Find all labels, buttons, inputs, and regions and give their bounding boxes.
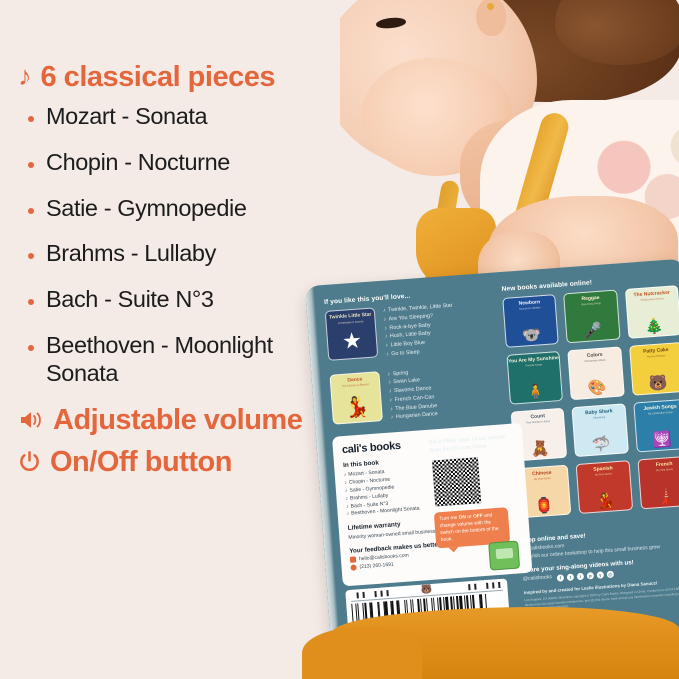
song-label: Hungarian Dance [396, 411, 438, 420]
music-note-icon: ♪ [346, 503, 349, 509]
new-books-column: New books available online! NewbornSound… [501, 273, 679, 518]
book-cover-art: 🗼 [640, 488, 679, 507]
adjustable-volume-label: Adjustable volume [53, 405, 302, 436]
book-cover-4[interactable]: ColorsFirst Words Library🎨 [568, 346, 625, 400]
book-cover-subtitle: Favorite Songs [525, 363, 542, 367]
book-cover-7[interactable]: Baby SharkSing Along🦈 [572, 403, 629, 457]
book-cover-subtitle: Sing Along Songs [581, 302, 601, 306]
bullet-dot [28, 116, 34, 122]
bullet-dot [28, 208, 34, 214]
music-note-icon: ♪ [345, 496, 348, 502]
bullet-dot [28, 253, 34, 259]
piano-black-key [498, 582, 500, 588]
mini-cover-subtitle: The Classics & Beyond [342, 383, 369, 388]
charge-section: Charge with USB-C Get a FREE cable on ou… [428, 424, 522, 549]
piece-label: Mozart - Sonata [46, 103, 207, 131]
classical-pieces-title: 6 classical pieces [41, 62, 275, 93]
instagram-icon[interactable]: i [577, 572, 584, 579]
song-list-twinkle: ♪Twinkle, Twinkle, Little Star ♪Are You … [383, 302, 456, 359]
book-cover-subtitle: My Celebration Songs [648, 411, 673, 416]
book-cover-8[interactable]: Jewish SongsMy Celebration Songs🕎 [633, 399, 679, 453]
feature-column: ♪ 6 classical pieces Mozart - Sonata Cho… [0, 0, 340, 679]
speaker-volume-icon [18, 405, 44, 431]
book-cover-subtitle: Tchaikovsky Classics [640, 297, 664, 302]
speaker-device-icon [488, 541, 520, 571]
piano-black-key [474, 584, 476, 590]
charge-text: Get a FREE cable on our website. Scan th… [428, 433, 515, 455]
onoff-button-label: On/Off button [50, 447, 232, 478]
piece-label: Bach - Suite N°3 [46, 286, 214, 314]
heart-icon [521, 554, 527, 560]
list-item: Mozart - Sonata [28, 103, 340, 131]
piano-black-key [356, 592, 358, 598]
qr-code[interactable] [432, 457, 481, 506]
music-note-icon: ♪ [383, 308, 386, 314]
mini-cover-subtitle: 10 Melodies & Sounds [338, 320, 364, 325]
book-cover-art: 🎨 [571, 378, 623, 397]
callout-pre: Turn me [439, 515, 459, 521]
bullet-dot [28, 162, 34, 168]
bear-icon: 🐻 [421, 585, 433, 595]
overall-fabric-bottom [332, 607, 679, 679]
song-label: Little Boy Blue [390, 340, 425, 349]
suggestion-twinkle[interactable]: Twinkle Little Star 10 Melodies & Sounds… [325, 298, 500, 363]
piano-black-key [362, 592, 364, 598]
list-item: Brahms - Lullaby [28, 240, 340, 268]
globe-icon [521, 547, 527, 553]
bullet-dot [28, 299, 34, 305]
bullet-dot [28, 345, 34, 351]
book-cover-10[interactable]: SpanishMy First Words💃 [576, 460, 633, 514]
mini-cover-dance[interactable]: Dance The Classics & Beyond 💃 [329, 371, 383, 425]
onoff-button-feature: On/Off button [18, 447, 340, 478]
social-handle: @calisbooks [523, 574, 552, 584]
music-note-icon: ♪ [385, 342, 388, 348]
music-note-icon: ♪ [18, 63, 32, 90]
list-item: Chopin - Nocturne [28, 149, 340, 177]
book-cover-art: 🎤 [567, 322, 619, 341]
classical-pieces-heading: ♪ 6 classical pieces [18, 62, 340, 93]
music-note-icon: ♪ [344, 472, 347, 478]
music-note-icon: ♪ [346, 511, 349, 517]
song-list-dance: ♪Spring ♪Swan Lake ♪Slavonic Dance ♪Fren… [387, 367, 438, 423]
phone-icon [350, 565, 356, 571]
book-cover-art: 🐨 [506, 326, 558, 345]
product-marketing-image: ♪ 6 classical pieces Mozart - Sonata Cho… [0, 0, 679, 679]
baby-photo [340, 0, 679, 300]
music-note-icon: ♪ [387, 371, 390, 377]
book-back-cover: If you like this you'll love... Twinkle … [305, 259, 679, 658]
song-label: Swan Lake [393, 377, 420, 385]
piece-label: Satie - Gymnopedie [46, 195, 247, 223]
song-label: Go to Sleep [391, 349, 420, 357]
song-label: French Can-Can [394, 394, 434, 403]
callout-off: OFF [473, 514, 483, 520]
suggestions-column: If you like this you'll love... Twinkle … [324, 286, 506, 437]
onoff-callout: Turn me ON or OFF and change volume with… [434, 507, 510, 549]
facebook-icon[interactable]: f [557, 574, 564, 581]
music-note-icon: ♪ [386, 351, 389, 357]
book-cover-3[interactable]: You Are My SunshineFavorite Songs🧍 [506, 351, 563, 405]
book-cover-subtitle: Nursery Rhymes [647, 354, 666, 358]
book-cover-art: 🎄 [628, 317, 679, 336]
mini-cover-twinkle[interactable]: Twinkle Little Star 10 Melodies & Sounds… [325, 307, 379, 361]
music-note-icon: ♪ [389, 388, 392, 394]
music-note-icon: ♪ [384, 325, 387, 331]
piano-black-key [374, 591, 376, 597]
email-social-icon[interactable]: @ [606, 570, 613, 577]
classical-pieces-list: Mozart - Sonata Chopin - Nocturne Satie … [28, 103, 340, 387]
book-cover-art: 🐻 [632, 374, 679, 393]
piano-black-key [486, 583, 488, 589]
music-note-icon: ♪ [344, 480, 347, 486]
shop-share-section: Shop online and save! calisbooks.com Vis… [520, 524, 679, 612]
book-cover-5[interactable]: Patty CakeNursery Rhymes🐻 [629, 342, 679, 396]
book-cover-subtitle: My First Words [656, 468, 673, 472]
piece-label: Brahms - Lullaby [46, 240, 216, 268]
book-cover-subtitle: Sounds & Lullabies [519, 306, 541, 311]
song-label: Spring [393, 370, 409, 377]
music-note-icon: ♪ [391, 415, 394, 421]
piece-label: Beethoven - Moonlight Sonata [46, 332, 296, 387]
music-note-icon: ♪ [388, 380, 391, 386]
music-note-icon: ♪ [345, 488, 348, 494]
book-cover-subtitle: First Words Library [584, 358, 605, 363]
list-item: Beethoven - Moonlight Sonata [28, 332, 340, 387]
ballerina-icon: 💃 [344, 397, 370, 419]
piano-black-key [386, 590, 388, 596]
book-cover-art: 🧍 [510, 383, 562, 402]
piano-black-key [380, 591, 382, 597]
star-icon: ★ [341, 329, 362, 352]
tiktok-icon[interactable]: t [567, 573, 574, 580]
music-note-icon: ♪ [385, 334, 388, 340]
book-cover-0[interactable]: NewbornSounds & Lullabies🐨 [502, 294, 559, 348]
book-cover-1[interactable]: ReggaeSing Along Songs🎤 [563, 290, 620, 344]
power-button-icon [18, 447, 41, 473]
book-cover-2[interactable]: The NutcrackerTchaikovsky Classics🎄 [625, 285, 679, 339]
pinterest-icon[interactable]: p [587, 572, 594, 579]
book-cover-art: 🕎 [636, 431, 679, 450]
adjustable-volume-feature: Adjustable volume [18, 405, 340, 436]
list-item: Bach - Suite N°3 [28, 286, 340, 314]
email-icon [350, 557, 356, 563]
music-note-icon: ♪ [389, 397, 392, 403]
book-cover-subtitle: My First Words [534, 477, 551, 481]
book-cover-11[interactable]: FrenchMy First Words🗼 [637, 456, 679, 510]
piece-label: Chopin - Nocturne [46, 149, 230, 177]
suggestion-dance[interactable]: Dance The Classics & Beyond 💃 ♪Spring ♪S… [329, 362, 504, 427]
music-note-icon: ♪ [390, 406, 393, 412]
book-cover-art: 🦈 [575, 435, 627, 454]
book-cover-subtitle: My First Words [595, 472, 612, 476]
piano-black-key [492, 582, 494, 588]
new-books-grid: NewbornSounds & Lullabies🐨ReggaeSing Alo… [502, 285, 679, 518]
book-cover-subtitle: Sing Along [593, 416, 605, 420]
piano-black-key [468, 584, 470, 590]
music-note-icon: ♪ [383, 316, 386, 322]
book-cover-art: 💃 [579, 492, 631, 511]
book-cover-subtitle: First Numbers Library [526, 420, 550, 425]
phone-label: (213) 260-1691 [359, 562, 394, 570]
earring [487, 3, 494, 10]
list-item: Satie - Gymnopedie [28, 195, 340, 223]
youtube-icon[interactable]: y [597, 571, 604, 578]
